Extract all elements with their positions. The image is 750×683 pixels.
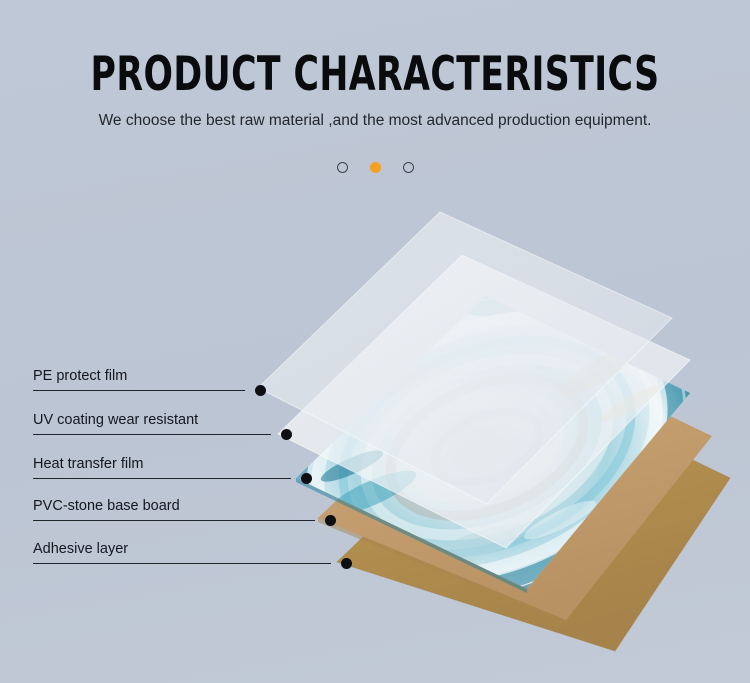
callout-label-text: Adhesive layer — [33, 540, 128, 558]
callout-pvc-stone-base-board: PVC-stone base board — [33, 501, 339, 521]
callout-rule — [33, 478, 291, 479]
callout-dot — [301, 473, 312, 484]
callout-adhesive-layer: Adhesive layer — [33, 544, 355, 564]
callout-rule — [33, 520, 315, 521]
callout-pe-protect-film: PE protect film — [33, 371, 273, 391]
callout-uv-coating-wear-resistant: UV coating wear resistant — [33, 415, 295, 435]
callout-rule — [33, 434, 271, 435]
callout-rule — [33, 390, 245, 391]
callout-dot — [325, 515, 336, 526]
callout-heat-transfer-film: Heat transfer film — [33, 459, 315, 479]
callout-dot — [341, 558, 352, 569]
callout-rule — [33, 563, 331, 564]
callout-label-text: PE protect film — [33, 367, 127, 385]
callout-dot — [281, 429, 292, 440]
product-characteristics-infographic: PRODUCT CHARACTERISTICS We choose the be… — [0, 0, 750, 683]
callout-label-text: UV coating wear resistant — [33, 411, 198, 429]
callout-label-text: PVC-stone base board — [33, 497, 180, 515]
callout-label-text: Heat transfer film — [33, 455, 143, 473]
callout-labels: PE protect film UV coating wear resistan… — [0, 0, 750, 683]
callout-dot — [255, 385, 266, 396]
